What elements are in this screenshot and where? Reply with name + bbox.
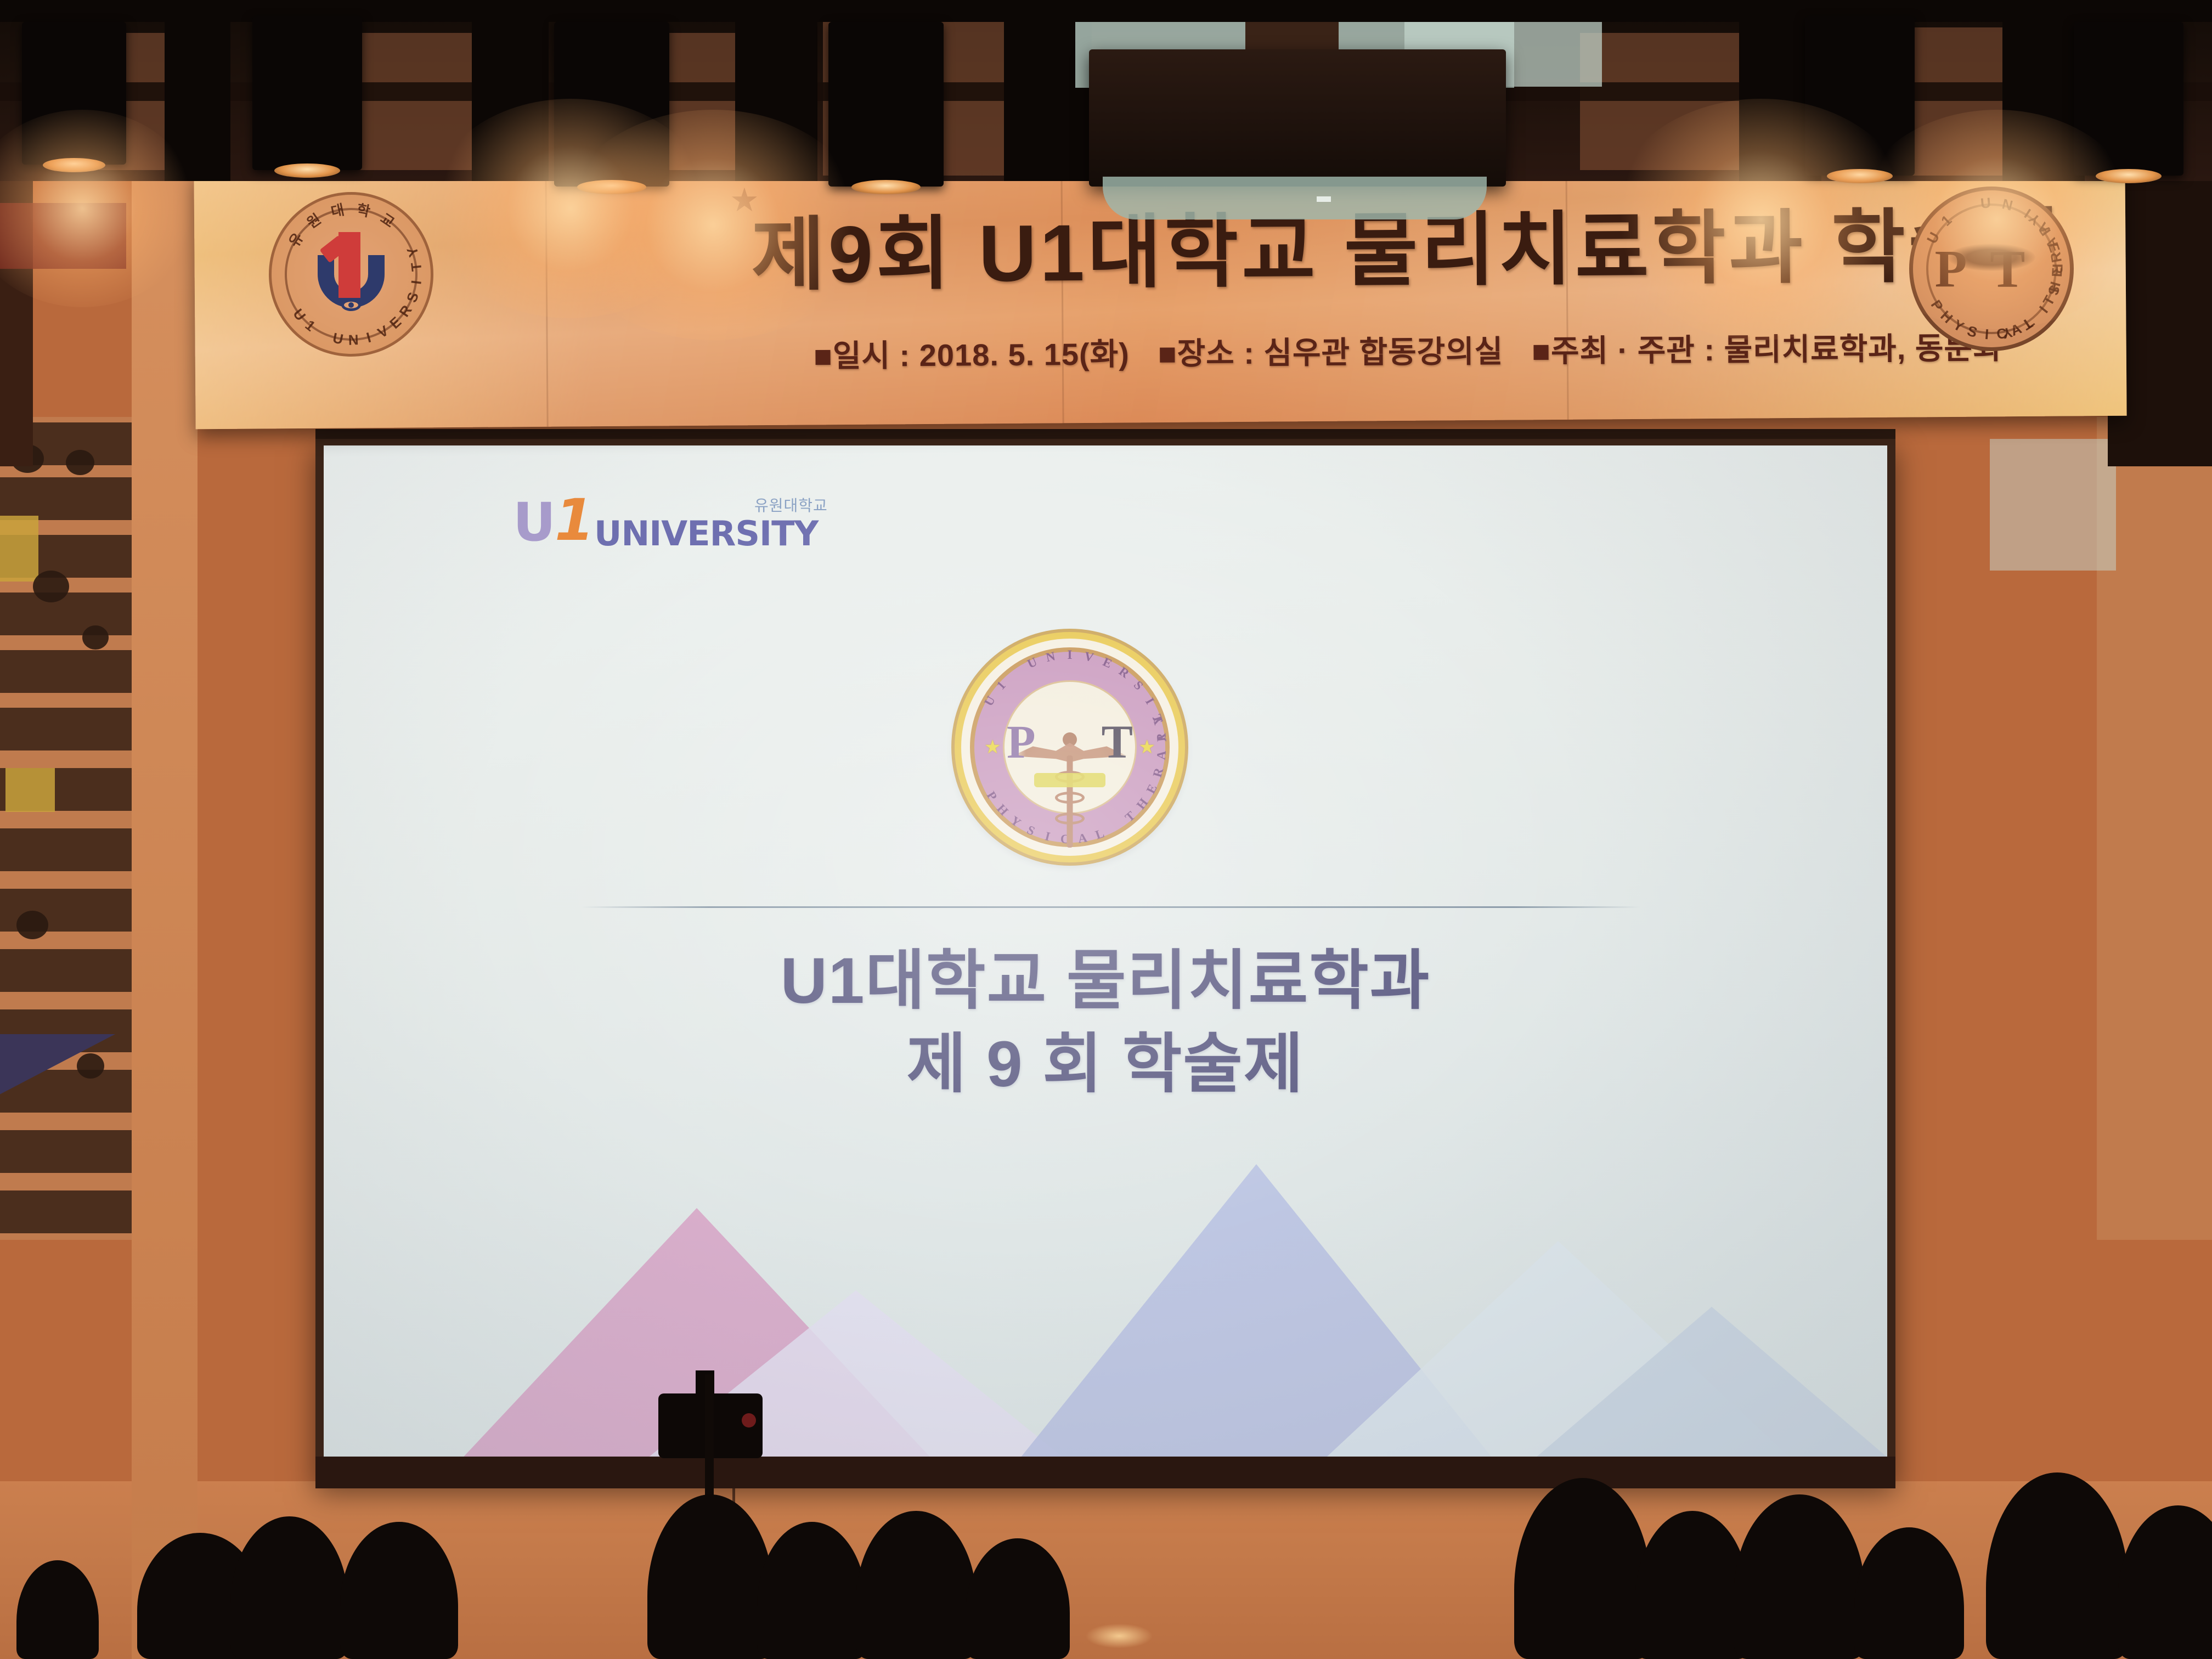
seal-base-banner [1034, 773, 1105, 787]
projector-underside [1103, 177, 1487, 219]
banner-detail-date: ■일시 : 2018. 5. 15(화) [814, 336, 1130, 373]
slide-title: U1대학교 물리치료학과 제 9 회 학술제 [324, 939, 1887, 1106]
logo-wordmark: UNIVERSITY [594, 517, 818, 551]
seal-letters: PT [1005, 714, 1135, 769]
banner-physical-therapy-seal: U1 UNIVERSITY PHYSICAL THERAPY PT [1909, 187, 2074, 351]
slide-title-line-2: 제 9 회 학술제 [324, 1023, 1887, 1106]
left-red-panel [0, 203, 126, 269]
banner-seal-letters: PT [1935, 239, 2049, 300]
ceiling-projector [1089, 49, 1506, 187]
logo-numeral-one: 1 [555, 492, 594, 549]
stage-spotlight [252, 16, 362, 170]
seal-letter-p: P [1007, 715, 1036, 768]
stage-spotlight [1805, 16, 1915, 176]
projector-indicator [1317, 196, 1331, 202]
logo-korean-name: 유원대학교 [754, 494, 828, 516]
stage-spotlight [2074, 22, 2183, 176]
stage-spotlight [828, 22, 944, 187]
slide-title-line-1: U1대학교 물리치료학과 [324, 939, 1887, 1023]
seal-outer-ring: U1 UNIVERSITY PHYSICAL THERAPY ★ ★ PT [970, 647, 1170, 847]
floor-light-pool [1086, 1624, 1152, 1648]
u1-mark-icon [310, 230, 392, 312]
slide-mountain-graphics [324, 1120, 1887, 1471]
seal-star-right: ★ [1139, 736, 1155, 758]
u1-university-circular-seal: 유원대학교 U1 UNIVERSITY [269, 192, 433, 357]
projection-screen: U 1 UNIVERSITY 유원대학교 U1 UNIVERSITY PHYSI… [324, 445, 1887, 1471]
slide-divider-rule [582, 906, 1640, 908]
left-wall-strip [132, 181, 198, 1659]
seal-star-left: ★ [984, 736, 1001, 758]
right-wall-panel [1990, 439, 2116, 571]
banner-star-decoration: ★ [730, 181, 759, 219]
stage-spotlight [554, 22, 669, 187]
stage-spotlight [22, 22, 126, 165]
u1-university-logo: U 1 UNIVERSITY 유원대학교 [513, 488, 886, 549]
photo-collage-wall [0, 417, 132, 1240]
seal-letter-t: T [1102, 715, 1133, 768]
seal-core: PT [1003, 680, 1137, 814]
physical-therapy-seal: U1 UNIVERSITY PHYSICAL THERAPY ★ ★ PT [955, 632, 1185, 862]
screen-bottom-bar [315, 1457, 1895, 1488]
auditorium-photo: U 1 UNIVERSITY 유원대학교 U1 UNIVERSITY PHYSI… [0, 0, 2212, 1659]
banner-detail-place: ■장소 : 심우관 합동강의실 [1158, 334, 1504, 371]
mountain-blue-far [1520, 1307, 1887, 1471]
logo-letter-u: U [513, 496, 556, 549]
microphone-indicator [742, 1413, 756, 1427]
